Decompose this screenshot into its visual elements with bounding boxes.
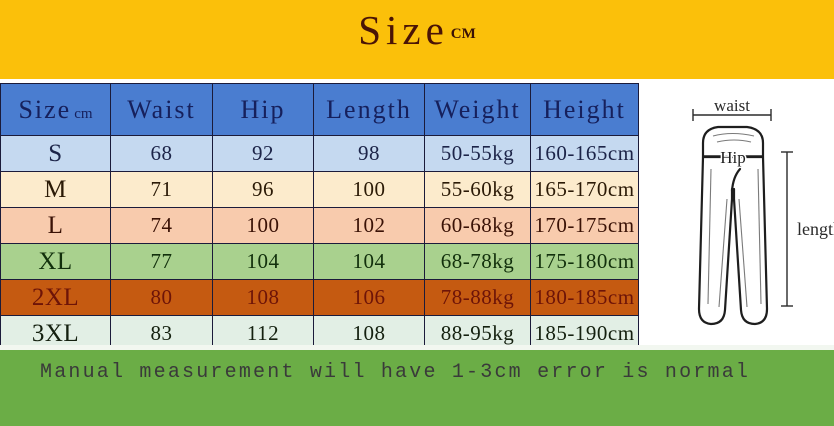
cell-height: 165-170cm [531,172,639,208]
table-header-row: Sizecm Waist Hip Length Weight Height [1,84,639,136]
hip-label: Hip [720,148,746,167]
cell-waist: 80 [111,280,213,316]
cell-weight: 78-88kg [425,280,531,316]
table-row: XL 77 104 104 68-78kg 175-180cm [1,244,639,280]
size-chart-page: SizeCM Sizecm Waist Hip Length Weight He… [0,0,834,426]
column-header-height: Height [531,84,639,136]
cell-weight: 55-60kg [425,172,531,208]
cell-hip: 92 [213,136,314,172]
table-row: L 74 100 102 60-68kg 170-175cm [1,208,639,244]
cell-size: M [1,172,111,208]
cell-waist: 71 [111,172,213,208]
waist-label: waist [714,96,750,115]
page-title-unit: CM [451,26,476,42]
cell-length: 100 [314,172,425,208]
column-header-hip: Hip [213,84,314,136]
cell-hip: 108 [213,280,314,316]
cell-waist: 77 [111,244,213,280]
title-wrap: SizeCM [0,6,834,54]
cell-height: 170-175cm [531,208,639,244]
cell-waist: 74 [111,208,213,244]
column-header-size-label: Size [18,95,71,124]
cell-length: 106 [314,280,425,316]
note-banner: Manual measurement will have 1-3cm error… [0,350,834,426]
page-title: Size [358,7,449,53]
column-header-weight: Weight [425,84,531,136]
cell-weight: 50-55kg [425,136,531,172]
title-band: SizeCM [0,0,834,79]
cell-size: 2XL [1,280,111,316]
column-header-size-unit: cm [74,106,92,122]
table-row: S 68 92 98 50-55kg 160-165cm [1,136,639,172]
cell-weight: 68-78kg [425,244,531,280]
pants-diagram-panel: waist [639,79,834,350]
cell-length: 98 [314,136,425,172]
table-row: M 71 96 100 55-60kg 165-170cm [1,172,639,208]
column-header-length: Length [314,84,425,136]
size-table: Sizecm Waist Hip Length Weight Height S … [0,83,639,352]
cell-hip: 100 [213,208,314,244]
column-header-waist: Waist [111,84,213,136]
cell-waist: 68 [111,136,213,172]
length-label: length [797,219,834,239]
cell-hip: 96 [213,172,314,208]
cell-height: 160-165cm [531,136,639,172]
cell-height: 175-180cm [531,244,639,280]
cell-hip: 104 [213,244,314,280]
measurement-note: Manual measurement will have 1-3cm error… [40,361,750,384]
pants-diagram-icon: waist [639,79,834,350]
column-header-size: Sizecm [1,84,111,136]
table-row: 2XL 80 108 106 78-88kg 180-185cm [1,280,639,316]
cell-height: 180-185cm [531,280,639,316]
cell-length: 104 [314,244,425,280]
cell-size: S [1,136,111,172]
cell-size: L [1,208,111,244]
cell-weight: 60-68kg [425,208,531,244]
cell-length: 102 [314,208,425,244]
cell-size: XL [1,244,111,280]
